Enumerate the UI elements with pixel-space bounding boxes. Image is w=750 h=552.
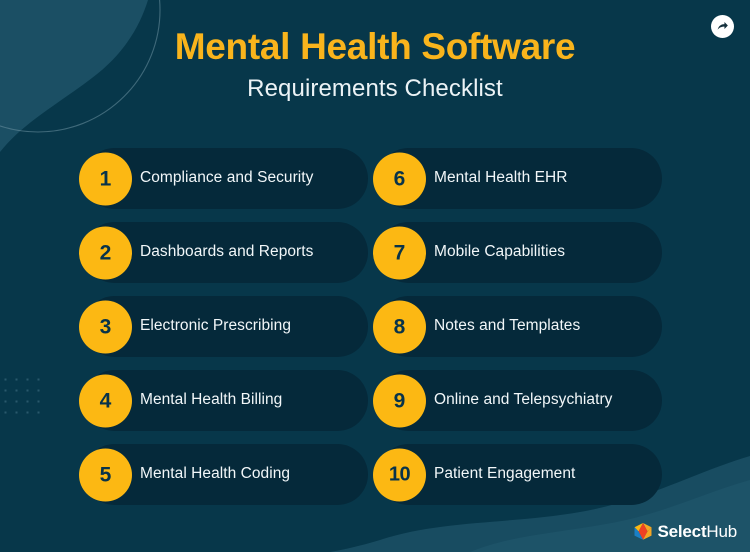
item-label: Mental Health EHR [434, 169, 578, 188]
item-label: Mobile Capabilities [434, 243, 575, 262]
list-item[interactable]: 9 Online and Telepsychiatry [378, 370, 662, 431]
item-label: Patient Engagement [434, 465, 585, 484]
list-item[interactable]: 8 Notes and Templates [378, 296, 662, 357]
item-label: Online and Telepsychiatry [434, 391, 622, 410]
list-item[interactable]: 2 Dashboards and Reports [84, 222, 368, 283]
list-item[interactable]: 4 Mental Health Billing [84, 370, 368, 431]
item-label: Notes and Templates [434, 317, 590, 336]
share-arrow-icon [716, 20, 729, 33]
item-number-badge: 9 [373, 374, 426, 427]
item-number-badge: 1 [79, 152, 132, 205]
item-number-badge: 4 [79, 374, 132, 427]
selecthub-cube-icon [633, 522, 653, 541]
page-subtitle: Requirements Checklist [0, 67, 750, 103]
list-item[interactable]: 6 Mental Health EHR [378, 148, 662, 209]
selecthub-logo[interactable]: SelectHub [633, 522, 737, 541]
item-number-badge: 10 [373, 448, 426, 501]
item-label: Electronic Prescribing [140, 317, 301, 336]
share-button[interactable] [711, 15, 734, 38]
logo-wordmark: SelectHub [658, 523, 737, 540]
item-number-badge: 5 [79, 448, 132, 501]
item-label: Dashboards and Reports [140, 243, 323, 262]
logo-name-bold: Select [658, 522, 707, 541]
page-title: Mental Health Software [0, 0, 750, 67]
checklist-column-left: 1 Compliance and Security 2 Dashboards a… [84, 148, 368, 505]
list-item[interactable]: 7 Mobile Capabilities [378, 222, 662, 283]
item-number-badge: 2 [79, 226, 132, 279]
checklist-column-right: 6 Mental Health EHR 7 Mobile Capabilitie… [378, 148, 662, 505]
item-number-badge: 8 [373, 300, 426, 353]
checklist: 1 Compliance and Security 2 Dashboards a… [0, 148, 750, 505]
list-item[interactable]: 10 Patient Engagement [378, 444, 662, 505]
item-label: Mental Health Billing [140, 391, 292, 410]
list-item[interactable]: 5 Mental Health Coding [84, 444, 368, 505]
logo-name-light: Hub [706, 522, 737, 541]
infographic-canvas: Mental Health Software Requirements Chec… [0, 0, 750, 552]
item-label: Mental Health Coding [140, 465, 300, 484]
item-label: Compliance and Security [140, 169, 323, 188]
list-item[interactable]: 3 Electronic Prescribing [84, 296, 368, 357]
item-number-badge: 7 [373, 226, 426, 279]
list-item[interactable]: 1 Compliance and Security [84, 148, 368, 209]
item-number-badge: 3 [79, 300, 132, 353]
header: Mental Health Software Requirements Chec… [0, 0, 750, 120]
item-number-badge: 6 [373, 152, 426, 205]
